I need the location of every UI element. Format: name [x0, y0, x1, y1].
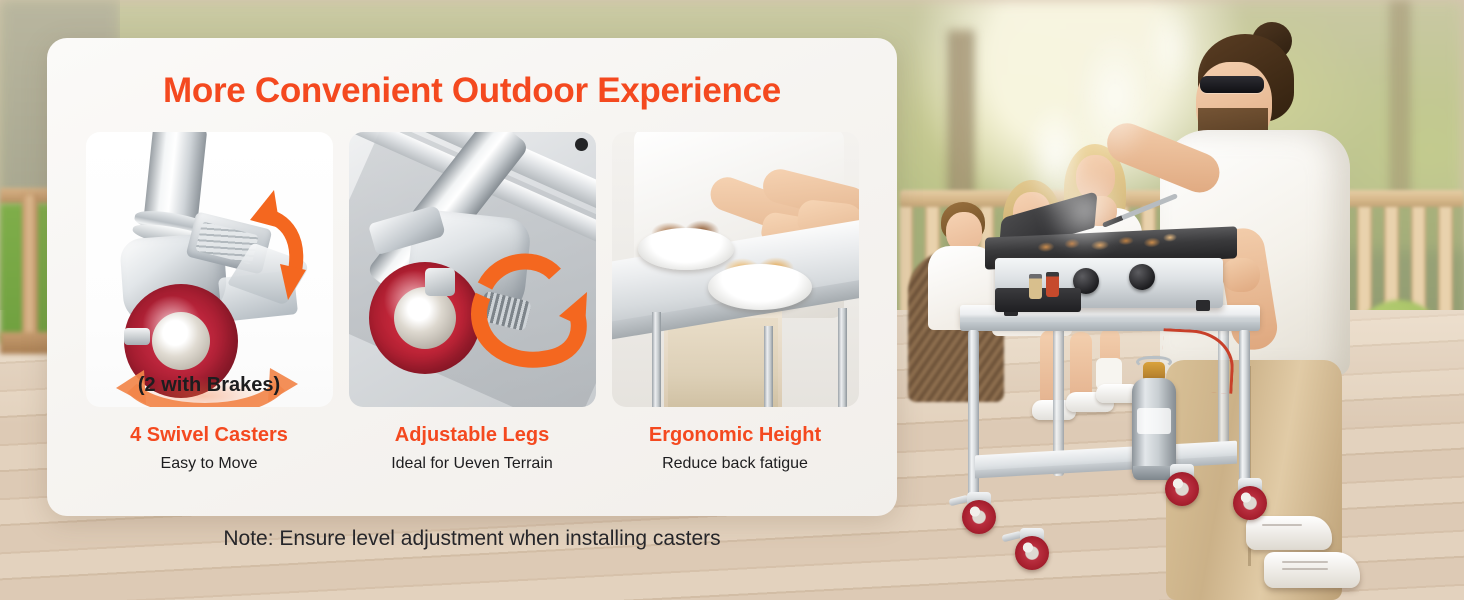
man-left-hand	[1222, 258, 1260, 292]
panel-caption-title: 4 Swivel Casters	[86, 423, 333, 448]
caster-wheel	[1165, 472, 1199, 506]
panel-caption: 4 Swivel Casters Easy to Move	[86, 423, 333, 474]
table-top-edge	[960, 322, 1260, 331]
sunglasses	[1200, 76, 1264, 93]
shoe-lace	[1282, 561, 1328, 563]
table-caster	[1015, 528, 1053, 566]
background-curtain	[668, 318, 778, 407]
panel-caption-title: Adjustable Legs	[349, 423, 596, 448]
panel-caption: Adjustable Legs Ideal for Ueven Terrain	[349, 423, 596, 474]
feature-panel-ergonomic-height: Ergonomic Height Reduce back fatigue	[612, 132, 859, 474]
table-leg	[968, 330, 979, 516]
table-caster	[962, 492, 1000, 530]
leg-adjust-hole	[575, 138, 588, 151]
table-caster	[1165, 464, 1203, 502]
table-leg	[652, 312, 661, 407]
tank-label	[1137, 408, 1171, 434]
spice-shaker	[1029, 274, 1042, 299]
bowl	[708, 264, 812, 310]
adjustable-legs-image	[349, 132, 596, 407]
feature-panel-swivel-casters: (2 with Brakes) 4 Swivel Casters Easy to…	[86, 132, 333, 474]
brakes-label: (2 with Brakes)	[86, 374, 333, 397]
note-text: Note: Ensure level adjustment when insta…	[47, 527, 897, 551]
left-railing-post	[22, 195, 38, 350]
panel-caption: Ergonomic Height Reduce back fatigue	[612, 423, 859, 474]
caster-wheel-hub	[152, 312, 210, 370]
feature-card: More Convenient Outdoor Experience	[47, 38, 897, 516]
shoe-lace	[1262, 524, 1302, 526]
panel-caption-title: Ergonomic Height	[612, 423, 859, 448]
panel-caption-sub: Easy to Move	[86, 454, 333, 474]
caster-axle	[124, 328, 150, 345]
table-leg	[1239, 330, 1250, 494]
caster-wheel	[962, 500, 996, 534]
caster-wheel	[1015, 536, 1049, 570]
table-leg	[764, 326, 773, 407]
panel-caption-sub: Ideal for Ueven Terrain	[349, 454, 596, 474]
table-caster	[1233, 478, 1271, 516]
griddle-foot	[1196, 300, 1210, 311]
caster-wheel-hub	[394, 287, 456, 349]
griddle-knob	[1129, 264, 1155, 290]
panel-caption-sub: Reduce back fatigue	[612, 454, 859, 474]
caster-wheel	[1233, 486, 1267, 520]
spice-shaker	[1046, 272, 1059, 297]
feature-panels: (2 with Brakes) 4 Swivel Casters Easy to…	[47, 111, 897, 474]
swivel-caster-image: (2 with Brakes)	[86, 132, 333, 407]
tree-trunk	[1390, 0, 1410, 200]
table-leg	[838, 308, 847, 407]
shoe-lace	[1282, 568, 1328, 570]
caster-axle-nut	[425, 268, 455, 296]
card-title: More Convenient Outdoor Experience	[47, 71, 897, 111]
ergonomic-height-image	[612, 132, 859, 407]
man-sneaker	[1264, 552, 1360, 588]
feature-panel-adjustable-legs: Adjustable Legs Ideal for Ueven Terrain	[349, 132, 596, 474]
man-sneaker	[1246, 516, 1332, 550]
